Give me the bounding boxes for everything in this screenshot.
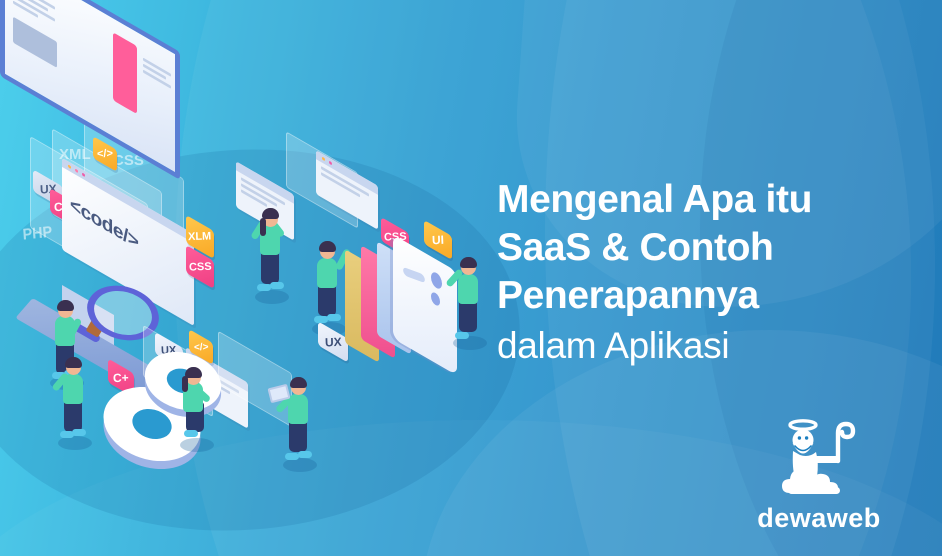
headline-subtitle: dalam Aplikasi: [497, 322, 917, 370]
person-shoe: [298, 451, 312, 458]
window-dot-magenta: [329, 161, 332, 166]
person-shadow: [255, 290, 289, 304]
window-dot-yellow: [68, 164, 71, 169]
person-legs: [261, 250, 279, 284]
headline-line-2: SaaS & Contoh: [497, 224, 917, 272]
window-dot-yellow: [322, 157, 325, 162]
window-dot-magenta: [82, 172, 85, 177]
person-shoe: [327, 314, 341, 321]
screen-pink-panel: [113, 32, 137, 114]
logo-wordmark: dewaweb: [754, 503, 884, 534]
person-ponytail: [260, 218, 266, 236]
person-hair: [262, 208, 279, 219]
person-shoe: [455, 332, 469, 339]
person-hair: [57, 300, 74, 311]
banner-canvas: PHP XML CSS UX </> C+ <code/>: [0, 0, 942, 556]
person-ponytail: [182, 376, 188, 392]
window-dot-pink: [75, 168, 78, 173]
headline-line-3: Penerapannya: [497, 272, 917, 320]
headline-block: Mengenal Apa itu SaaS & Contoh Penerapan…: [497, 176, 917, 370]
person-shoe: [257, 284, 271, 291]
person-hair: [185, 367, 202, 378]
person-shadow: [283, 458, 317, 472]
person-torso: [317, 258, 337, 288]
person-hair: [290, 377, 307, 388]
dewaweb-logo[interactable]: dewaweb: [754, 417, 884, 534]
person-shoe: [72, 429, 86, 436]
person-hair: [460, 257, 477, 268]
hero-illustration: PHP XML CSS UX </> C+ <code/>: [0, 0, 500, 556]
person-shadow: [58, 436, 92, 450]
angel-on-cloud-icon: [776, 417, 862, 501]
person-shoe: [270, 282, 284, 289]
person-shoe: [184, 430, 198, 437]
person-hair: [65, 357, 82, 368]
person-shoe: [314, 316, 328, 323]
person-hair: [319, 241, 336, 252]
person-torso: [458, 274, 478, 304]
person-shoe: [285, 453, 299, 460]
headline-line-1: Mengenal Apa itu: [497, 176, 917, 224]
person-shadow: [180, 438, 214, 452]
